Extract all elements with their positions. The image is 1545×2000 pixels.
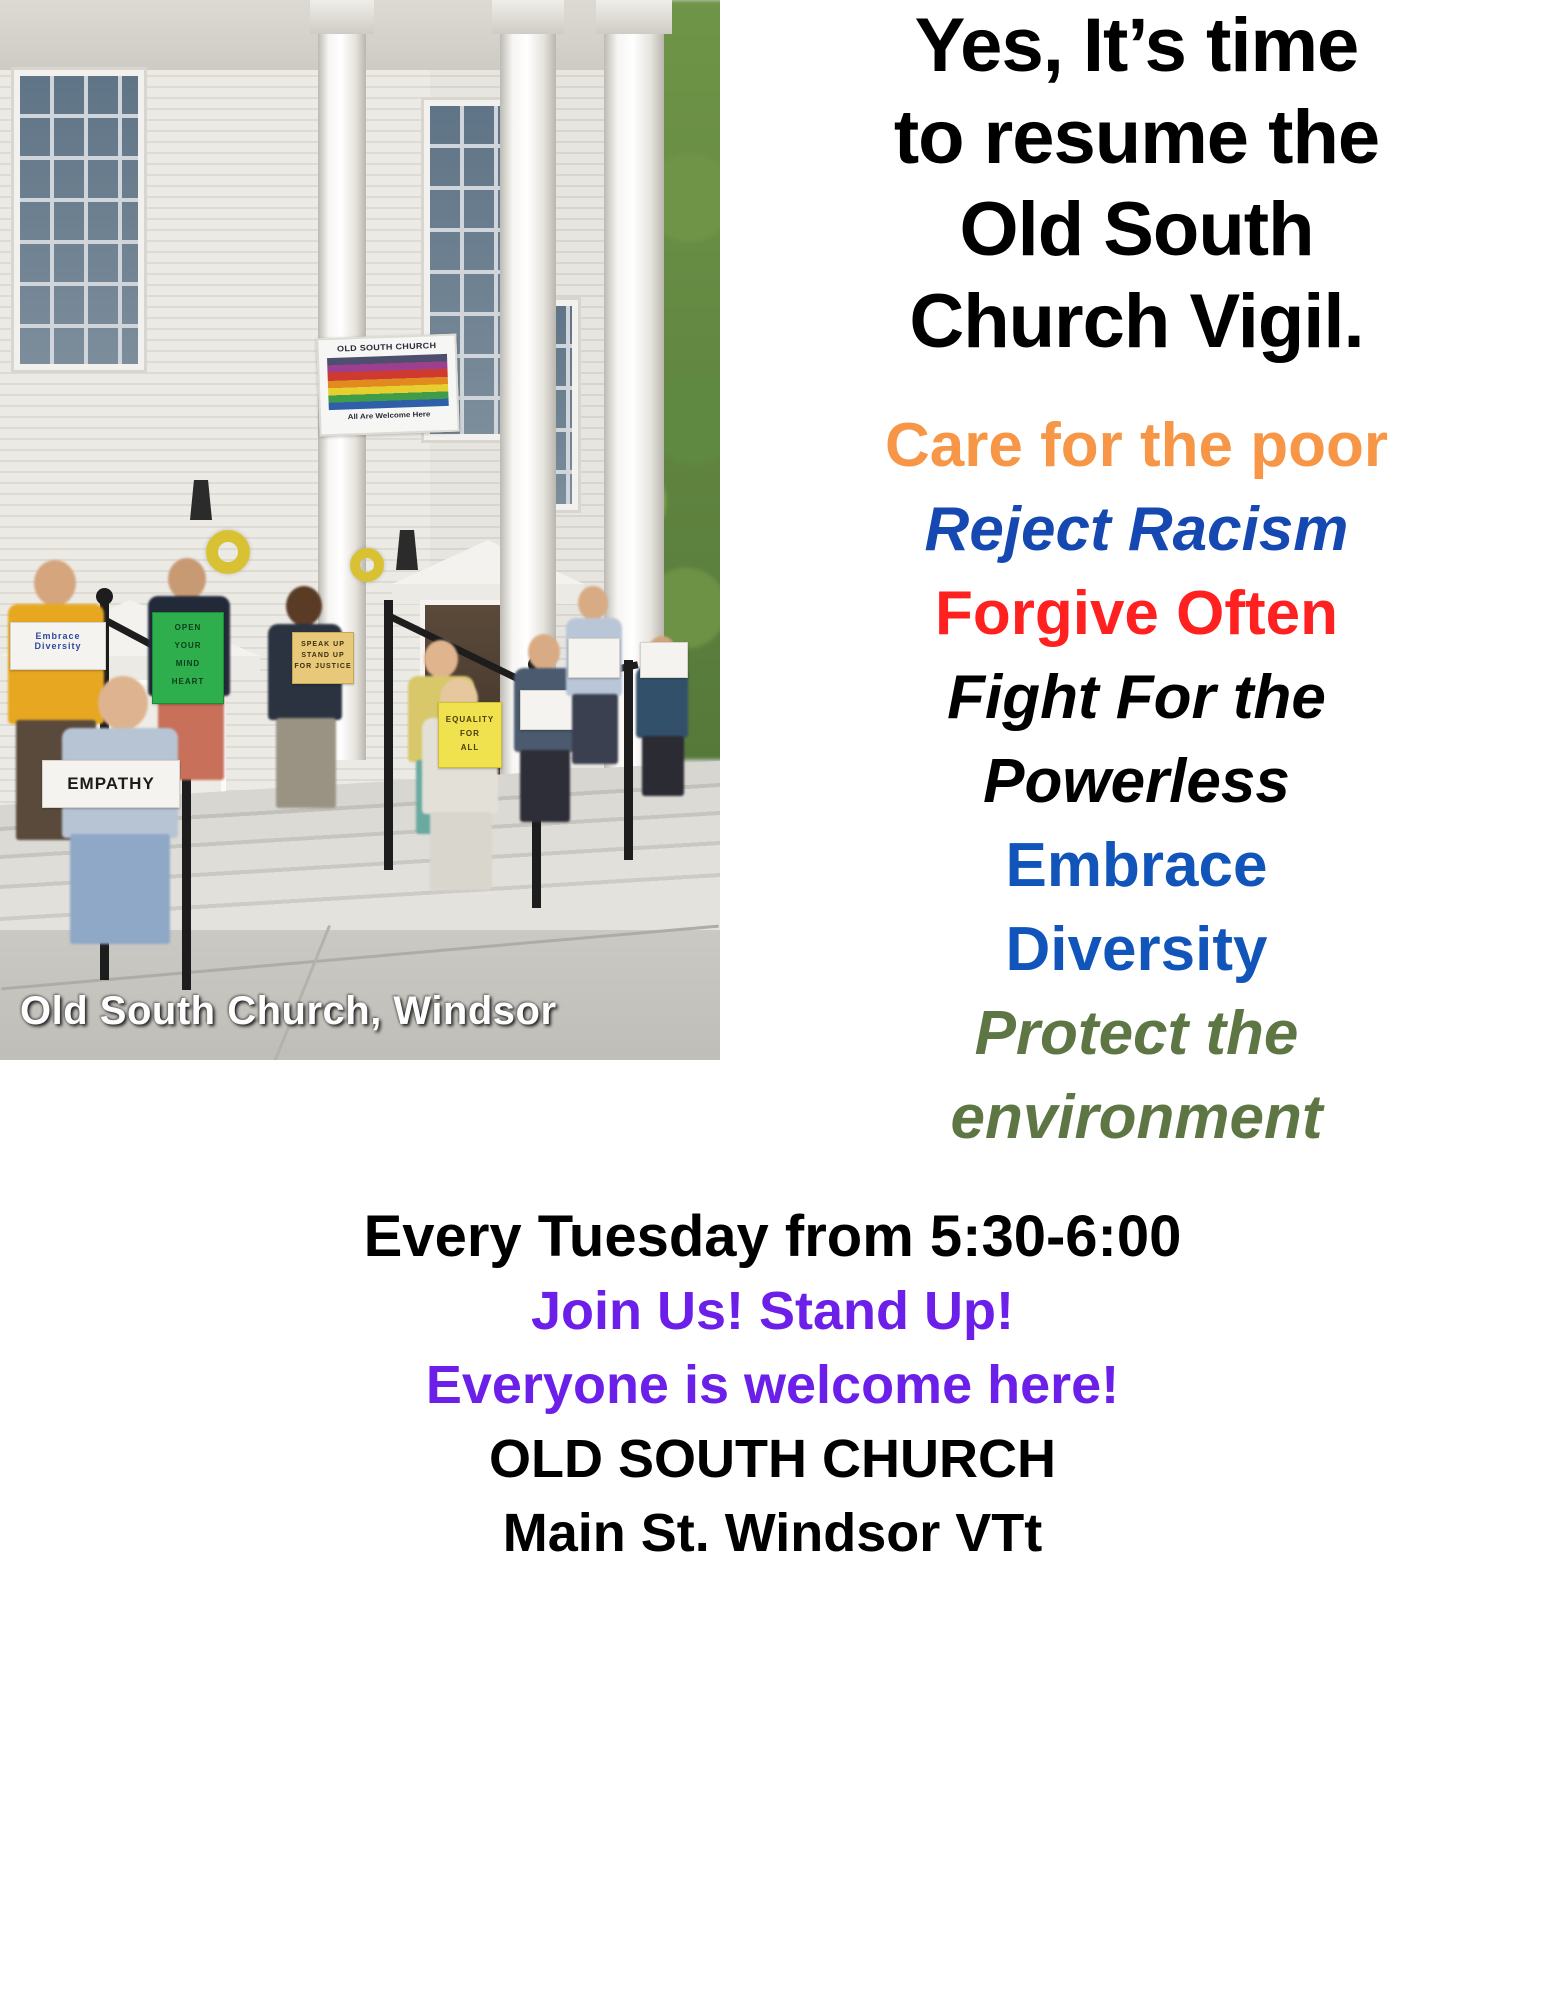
call-to-action: Join Us! Stand Up! bbox=[0, 1274, 1545, 1348]
railing-post bbox=[624, 660, 633, 860]
headline-line-2: to resume the bbox=[746, 92, 1527, 184]
church-window bbox=[14, 70, 144, 370]
protest-sign-empathy: EMPATHY bbox=[42, 760, 180, 808]
headline-line-1: Yes, It’s time bbox=[746, 0, 1527, 92]
protest-sign bbox=[520, 690, 576, 730]
slogan-reject-racism: Reject Racism bbox=[738, 488, 1535, 572]
rainbow-pride-flag-icon bbox=[327, 354, 449, 410]
protest-sign bbox=[640, 642, 688, 678]
slogan-diversity: Diversity bbox=[738, 908, 1535, 992]
church-welcome-banner: OLD SOUTH CHURCH All Are Welcome Here bbox=[316, 334, 459, 437]
column-capital bbox=[492, 0, 564, 34]
welcome-message: Everyone is welcome here! bbox=[0, 1348, 1545, 1422]
protest-sign: EQUALITYFORALL bbox=[438, 702, 502, 768]
slogan-environment: environment bbox=[738, 1076, 1535, 1160]
slogan-care-for-the-poor: Care for the poor bbox=[738, 404, 1535, 488]
vigil-photo: OLD SOUTH CHURCH All Are Welcome Here bbox=[0, 0, 720, 1060]
railing-post bbox=[384, 600, 393, 870]
protest-sign: SPEAK UPSTAND UPFOR JUSTICE bbox=[292, 632, 354, 684]
headline-line-4: Church Vigil. bbox=[746, 276, 1527, 368]
protest-sign: OPENYOURMINDHEART bbox=[152, 612, 224, 704]
top-section: OLD SOUTH CHURCH All Are Welcome Here bbox=[0, 0, 1545, 1185]
headline-column: Yes, It’s time to resume the Old South C… bbox=[728, 0, 1545, 1160]
footer-details: Every Tuesday from 5:30-6:00 Join Us! St… bbox=[0, 1200, 1545, 1570]
page-title: Yes, It’s time to resume the Old South C… bbox=[728, 0, 1545, 368]
slogan-embrace: Embrace bbox=[738, 824, 1535, 908]
protest-sign: EmbraceDiversity bbox=[10, 622, 106, 670]
slogan-fight-for-the: Fight For the bbox=[738, 656, 1535, 740]
headline-line-3: Old South bbox=[746, 184, 1527, 276]
column-capital bbox=[310, 0, 374, 34]
slogan-forgive-often: Forgive Often bbox=[738, 572, 1535, 656]
slogan-protect-the: Protect the bbox=[738, 992, 1535, 1076]
flyer-page: OLD SOUTH CHURCH All Are Welcome Here bbox=[0, 0, 1545, 2000]
organization-name: OLD SOUTH CHURCH bbox=[0, 1422, 1545, 1496]
column-capital bbox=[596, 0, 672, 34]
railing-knob bbox=[96, 588, 113, 605]
wreath-icon bbox=[350, 548, 384, 582]
street-address: Main St. Windsor VTt bbox=[0, 1496, 1545, 1570]
protest-sign bbox=[568, 638, 620, 678]
banner-top-text: OLD SOUTH CHURCH bbox=[319, 340, 455, 354]
slogan-list: Care for the poor Reject Racism Forgive … bbox=[728, 404, 1545, 1160]
slogan-powerless: Powerless bbox=[738, 740, 1535, 824]
event-schedule: Every Tuesday from 5:30-6:00 bbox=[0, 1200, 1545, 1274]
wreath-icon bbox=[206, 530, 250, 574]
photo-caption: Old South Church, Windsor bbox=[20, 989, 700, 1034]
banner-bottom-text: All Are Welcome Here bbox=[321, 409, 457, 422]
